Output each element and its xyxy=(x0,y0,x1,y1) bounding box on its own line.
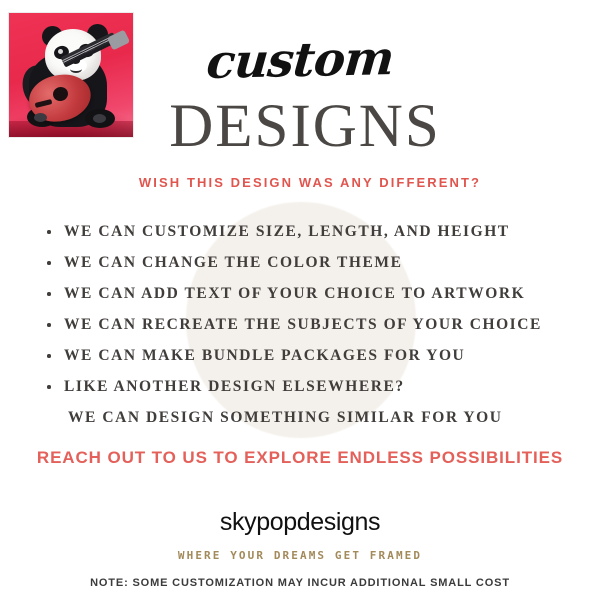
list-item-label: WE CAN RECREATE THE SUBJECTS OF YOUR CHO… xyxy=(64,316,542,333)
panda-left-pupil xyxy=(58,49,63,54)
panda-mouth xyxy=(70,65,82,73)
list-item: WE CAN CHANGE THE COLOR THEME xyxy=(44,247,584,278)
list-item: WE CAN CUSTOMIZE SIZE, LENGTH, AND HEIGH… xyxy=(44,216,584,247)
bullet-dot-icon xyxy=(47,292,51,296)
list-item: WE CAN ADD TEXT OF YOUR CHOICE TO ARTWOR… xyxy=(44,278,584,309)
call-to-action-text: REACH OUT TO US TO EXPLORE ENDLESS POSSI… xyxy=(0,448,600,468)
panda-right-paw xyxy=(93,114,106,123)
list-item-continuation: WE CAN DESIGN SOMETHING SIMILAR FOR YOU xyxy=(44,402,584,433)
promo-poster: custom DESIGNS WISH THIS DESIGN WAS ANY … xyxy=(0,0,600,600)
bullet-dot-icon xyxy=(47,230,51,234)
list-item-label: WE CAN DESIGN SOMETHING SIMILAR FOR YOU xyxy=(68,409,503,426)
list-item: WE CAN MAKE BUNDLE PACKAGES FOR YOU xyxy=(44,340,584,371)
bullet-dot-icon xyxy=(47,323,51,327)
list-item-label: WE CAN MAKE BUNDLE PACKAGES FOR YOU xyxy=(64,347,465,364)
list-item: WE CAN RECREATE THE SUBJECTS OF YOUR CHO… xyxy=(44,309,584,340)
page-title: DESIGNS xyxy=(140,96,470,158)
brand-name: skypopdesigns xyxy=(0,508,600,537)
product-thumbnail-image xyxy=(8,12,134,138)
bullet-dot-icon xyxy=(47,385,51,389)
list-item: LIKE ANOTHER DESIGN ELSEWHERE? xyxy=(44,371,584,402)
list-item-label: WE CAN ADD TEXT OF YOUR CHOICE TO ARTWOR… xyxy=(64,285,525,302)
list-item-label: LIKE ANOTHER DESIGN ELSEWHERE? xyxy=(64,378,405,395)
footer-note: NOTE: SOME CUSTOMIZATION MAY INCUR ADDIT… xyxy=(0,577,600,589)
bullet-dot-icon xyxy=(47,354,51,358)
script-heading-custom: custom xyxy=(147,29,452,93)
panda-left-paw xyxy=(34,113,47,122)
feature-list: WE CAN CUSTOMIZE SIZE, LENGTH, AND HEIGH… xyxy=(44,216,584,433)
subtitle-question: WISH THIS DESIGN WAS ANY DIFFERENT? xyxy=(100,175,520,190)
list-item-label: WE CAN CHANGE THE COLOR THEME xyxy=(64,254,403,271)
brand-tagline: WHERE YOUR DREAMS GET FRAMED xyxy=(0,549,600,562)
list-item-label: WE CAN CUSTOMIZE SIZE, LENGTH, AND HEIGH… xyxy=(64,223,510,240)
bullet-dot-icon xyxy=(47,261,51,265)
